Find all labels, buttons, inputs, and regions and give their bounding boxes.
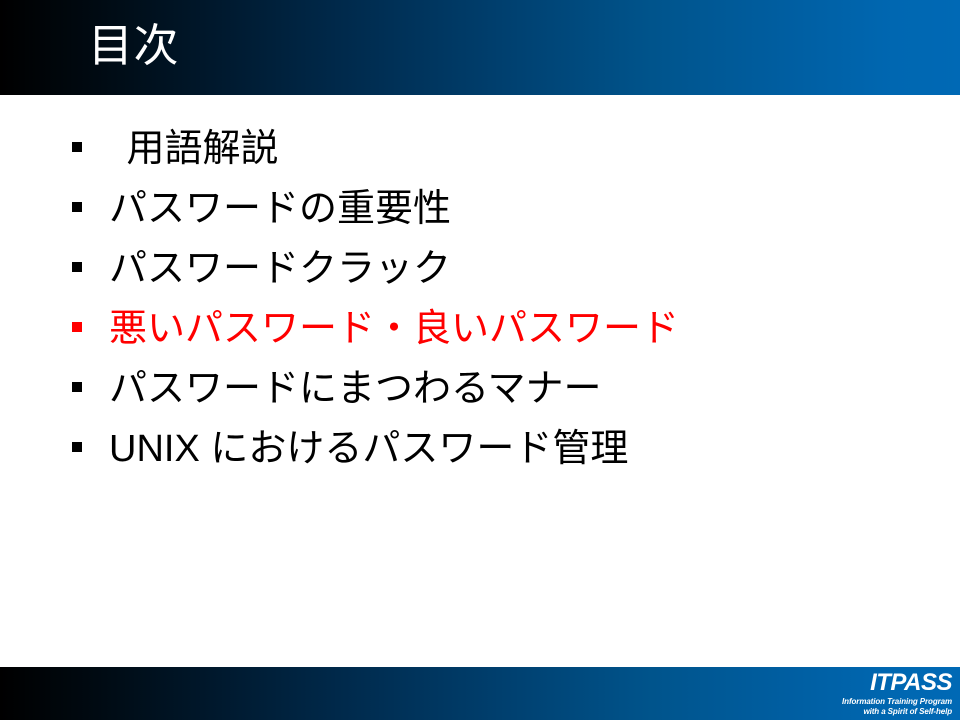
square-bullet-icon xyxy=(72,442,82,452)
list-item-label: UNIX におけるパスワード管理 xyxy=(109,423,628,475)
square-bullet-icon xyxy=(72,322,82,332)
list-item-label: 悪いパスワード・良いパスワード xyxy=(109,303,679,355)
header-banner: 目次 xyxy=(0,0,960,95)
list-item-label: パスワードクラック xyxy=(109,243,451,295)
logo-tagline-line1: Information Training Program xyxy=(842,697,952,707)
logo-tagline-line2: with a Spirit of Self-help xyxy=(842,707,952,717)
list-item: パスワードクラック xyxy=(0,243,960,303)
list-item: パスワードの重要性 xyxy=(0,183,960,243)
list-item-label: パスワードの重要性 xyxy=(109,183,451,235)
list-item: パスワードにまつわるマナー xyxy=(0,363,960,423)
square-bullet-icon xyxy=(72,382,82,392)
footer-banner: ITPASS Information Training Program with… xyxy=(0,667,960,720)
list-item-label: パスワードにまつわるマナー xyxy=(109,363,601,415)
slide: 目次 用語解説 パスワードの重要性 パスワードクラック 悪いパスワード・良いパス… xyxy=(0,0,960,720)
square-bullet-icon xyxy=(72,262,82,272)
list-item-highlighted: 悪いパスワード・良いパスワード xyxy=(0,303,960,363)
itpass-logo: ITPASS Information Training Program with… xyxy=(842,671,952,717)
slide-content: 用語解説 パスワードの重要性 パスワードクラック 悪いパスワード・良いパスワード… xyxy=(0,95,960,667)
page-title: 目次 xyxy=(88,17,179,75)
list-item: UNIX におけるパスワード管理 xyxy=(0,423,960,483)
logo-wordmark: ITPASS xyxy=(842,671,952,695)
list-item: 用語解説 xyxy=(0,123,960,183)
square-bullet-icon xyxy=(72,202,82,212)
agenda-list: 用語解説 パスワードの重要性 パスワードクラック 悪いパスワード・良いパスワード… xyxy=(0,95,960,483)
list-item-label: 用語解説 xyxy=(116,123,279,175)
square-bullet-icon xyxy=(72,142,82,152)
